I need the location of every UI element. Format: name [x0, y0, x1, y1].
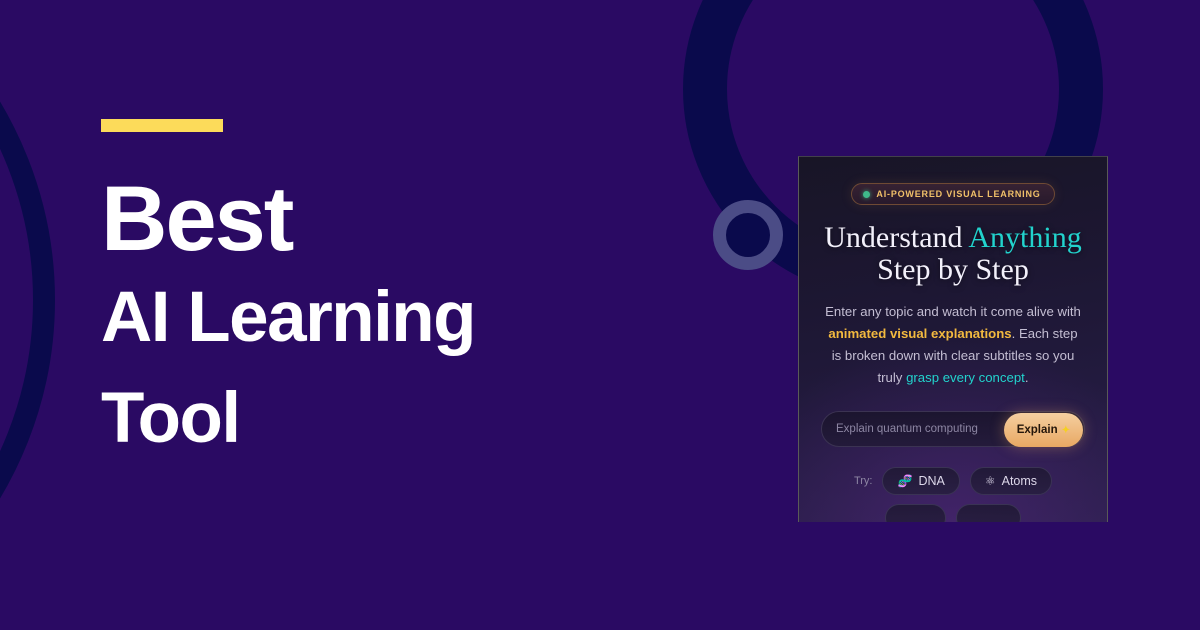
suggestion-chip-atoms-label: Atoms	[1002, 474, 1037, 488]
status-badge: AI-POWERED VISUAL LEARNING	[851, 183, 1054, 205]
page-title-line-2: AI Learning	[101, 273, 701, 364]
headline-part-1: Understand	[824, 221, 968, 254]
page-title-line-3: Tool	[101, 374, 701, 465]
sparkle-icon: ✦	[1062, 425, 1070, 436]
topic-search-row[interactable]: Explain ✦	[821, 411, 1085, 447]
atom-icon: ⚛	[985, 475, 996, 487]
ring-small-decor	[713, 200, 783, 270]
headline-part-2: Step by Step	[877, 253, 1029, 286]
hero-text-panel: Best AI Learning Tool	[101, 119, 701, 465]
yellow-accent-bar	[101, 119, 223, 132]
explain-button-label: Explain	[1017, 424, 1058, 436]
suggestion-chip-overflow-1[interactable]	[885, 504, 946, 522]
page-title-line-1: Best	[101, 175, 701, 263]
subcopy-teal-emphasis: grasp every concept	[906, 370, 1025, 385]
arc-decor-1	[0, 0, 55, 630]
card-subcopy: Enter any topic and watch it come alive …	[823, 301, 1083, 389]
suggestion-chip-dna[interactable]: 🧬 DNA	[882, 467, 959, 495]
suggestion-chip-overflow-2[interactable]	[956, 504, 1021, 522]
suggestion-chip-dna-label: DNA	[918, 474, 944, 488]
subcopy-segment-1: Enter any topic and watch it come alive …	[825, 304, 1081, 319]
suggestion-chips-row-overflow	[817, 504, 1089, 522]
status-dot-icon	[863, 191, 870, 198]
explain-button[interactable]: Explain ✦	[1004, 413, 1083, 447]
suggestions-label: Try:	[854, 475, 873, 487]
card-content: AI-POWERED VISUAL LEARNING Understand An…	[799, 157, 1107, 522]
headline-accent-word: Anything	[968, 221, 1081, 254]
suggestion-chips-row: Try: 🧬 DNA ⚛ Atoms	[817, 467, 1089, 495]
card-headline: Understand Anything Step by Step	[817, 222, 1089, 285]
subcopy-segment-3: .	[1025, 370, 1029, 385]
product-screenshot-card: AI-POWERED VISUAL LEARNING Understand An…	[798, 156, 1108, 522]
dna-icon: 🧬	[897, 475, 912, 487]
suggestion-chip-atoms[interactable]: ⚛ Atoms	[970, 467, 1052, 495]
status-badge-label: AI-POWERED VISUAL LEARNING	[876, 189, 1040, 199]
subcopy-gold-emphasis: animated visual explanations	[828, 326, 1011, 341]
